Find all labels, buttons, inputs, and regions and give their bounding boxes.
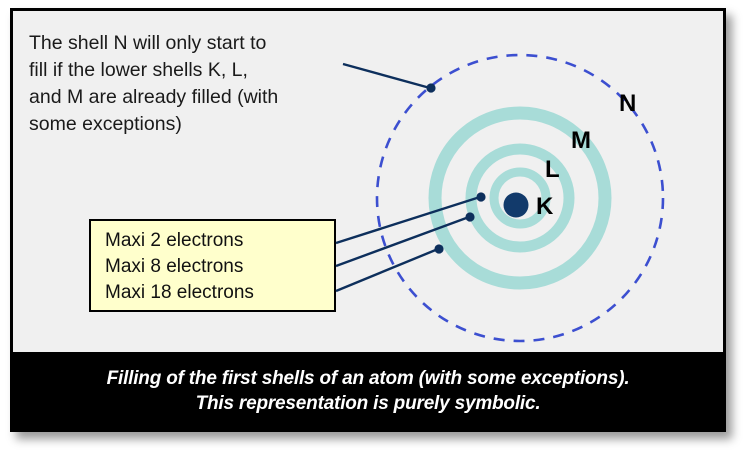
leader-endpoint-m-shell: [434, 244, 443, 253]
leader-endpoint-n-shell: [426, 83, 435, 92]
leader-line-legend-to-l-shell: [336, 217, 469, 266]
note-text: The shell N will only start to fill if t…: [29, 30, 359, 138]
shell-k-circle: [494, 172, 546, 224]
caption-bar: Filling of the first shells of an atom (…: [13, 352, 723, 429]
leader-endpoint-l-shell: [465, 212, 474, 221]
note-line-4: some exceptions): [29, 111, 359, 138]
leader-endpoint-k-shell: [476, 192, 485, 201]
nucleus: [504, 193, 529, 218]
shell-l-circle: [471, 149, 569, 247]
shell-label-k: K: [536, 193, 554, 220]
note-line-2: fill if the lower shells K, L,: [29, 57, 359, 84]
diagram-panel: The shell N will only start to fill if t…: [13, 11, 723, 352]
electron-capacity-legend-box: Maxi 2 electrons Maxi 8 electrons Maxi 1…: [89, 219, 336, 312]
legend-line-l-shell: Maxi 8 electrons: [105, 254, 334, 280]
shell-n-circle: [377, 55, 663, 341]
shell-label-n: N: [619, 90, 636, 117]
shell-m-circle: [435, 113, 605, 283]
shell-label-m: M: [571, 127, 591, 154]
leader-line-legend-to-m-shell: [336, 249, 438, 291]
leader-line-legend-to-k-shell: [336, 197, 480, 243]
caption-line-2: This representation is purely symbolic.: [196, 391, 541, 416]
caption-line-1: Filling of the first shells of an atom (…: [107, 366, 630, 391]
note-line-3: and M are already filled (with: [29, 84, 359, 111]
diagram-frame: The shell N will only start to fill if t…: [10, 8, 726, 432]
atom-shell-diagram-figure: The shell N will only start to fill if t…: [0, 0, 749, 461]
legend-line-m-shell: Maxi 18 electrons: [105, 280, 334, 306]
shell-label-l: L: [545, 156, 560, 183]
legend-line-k-shell: Maxi 2 electrons: [105, 228, 334, 254]
note-line-1: The shell N will only start to: [29, 30, 359, 57]
